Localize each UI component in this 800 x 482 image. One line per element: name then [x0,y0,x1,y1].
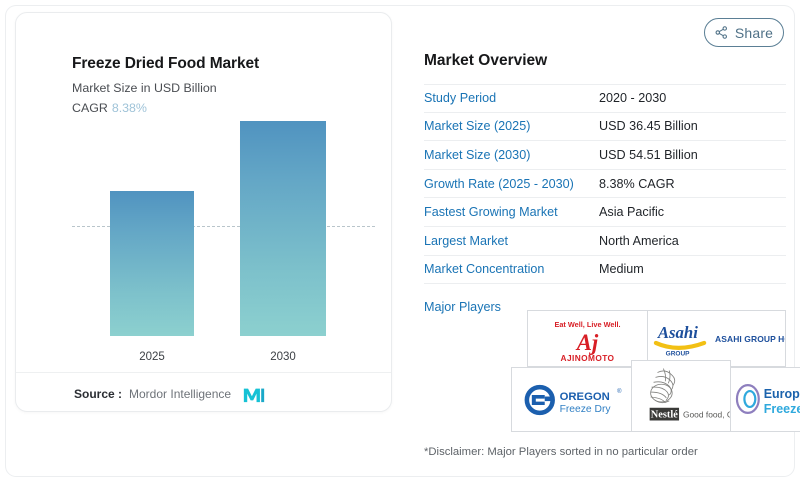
chart-cagr: CAGR8.38% [72,101,147,115]
cagr-value: 8.38% [112,101,147,115]
bar-2030[interactable] [240,121,326,336]
player-logo-european-freeze-dry: European Freeze Dry [731,367,800,432]
row-key: Market Size (2030) [424,148,599,162]
source-label: Source : [74,387,122,401]
row-value: USD 36.45 Billion [599,119,786,133]
table-row: Largest Market North America [424,227,786,256]
table-row: Market Concentration Medium [424,256,786,285]
chart-card: Freeze Dried Food Market Market Size in … [15,12,392,412]
mordor-intelligence-logo [243,386,265,403]
svg-text:Eat Well, Live Well.: Eat Well, Live Well. [554,320,620,329]
player-logo-nestle: Nestlé Good food, Good life [631,360,731,432]
svg-text:AJINOMOTO: AJINOMOTO [561,353,615,363]
source-divider [16,372,391,373]
x-tick-2025: 2025 [110,351,194,363]
share-button[interactable]: Share [704,18,784,47]
svg-text:Freeze Dry: Freeze Dry [764,402,800,416]
row-key: Fastest Growing Market [424,205,599,219]
svg-text:®: ® [617,388,622,395]
x-tick-2030: 2030 [240,351,326,363]
row-key: Market Concentration [424,262,599,276]
bar-2025[interactable] [110,191,194,336]
bar-chart-plot: USD 36.45 B USD 54.51 B 2025 2030 [16,121,392,371]
overview-table: Study Period 2020 - 2030 Market Size (20… [424,84,786,284]
row-key: Market Size (2025) [424,119,599,133]
table-row: Study Period 2020 - 2030 [424,84,786,113]
svg-text:Good food, Good life: Good food, Good life [683,410,730,420]
row-value: Medium [599,262,786,276]
svg-text:European: European [764,387,800,401]
chart-subtitle: Market Size in USD Billion [72,81,217,95]
market-overview-panel: Market Overview Study Period 2020 - 2030… [416,12,786,472]
source-value: Mordor Intelligence [129,387,231,401]
share-nodes-icon [715,26,728,39]
svg-text:GROUP: GROUP [666,351,691,358]
svg-text:Aj: Aj [575,330,599,355]
player-logo-oregon-freeze-dry: OREGON ® Freeze Dry [511,367,631,432]
market-summary-page: Share Freeze Dried Food Market Market Si… [0,0,800,482]
table-row: Fastest Growing Market Asia Pacific [424,198,786,227]
share-button-label: Share [735,25,773,41]
row-value: 8.38% CAGR [599,177,786,191]
svg-text:Nestlé: Nestlé [651,410,678,421]
row-value: USD 54.51 Billion [599,148,786,162]
svg-text:Freeze Dry: Freeze Dry [560,404,612,415]
major-players-label: Major Players [424,300,501,314]
major-players-logos: Eat Well, Live Well. Aj AJINOMOTO Asahi … [511,310,786,432]
source-row: Source : Mordor Intelligence [74,387,231,401]
row-value: Asia Pacific [599,205,786,219]
row-value: 2020 - 2030 [599,91,786,105]
player-logo-ajinomoto: Eat Well, Live Well. Aj AJINOMOTO [527,310,647,367]
table-row: Growth Rate (2025 - 2030) 8.38% CAGR [424,170,786,199]
disclaimer-text: *Disclaimer: Major Players sorted in no … [424,446,698,458]
svg-text:Asahi: Asahi [657,323,698,342]
row-key: Largest Market [424,234,599,248]
row-value: North America [599,234,786,248]
cagr-label: CAGR [72,101,108,115]
overview-title: Market Overview [424,52,547,70]
table-row: Market Size (2030) USD 54.51 Billion [424,141,786,170]
player-logo-asahi: Asahi GROUP ASAHI GROUP HOLDINGS [647,310,786,367]
svg-text:OREGON: OREGON [560,391,610,403]
chart-title: Freeze Dried Food Market [72,55,259,73]
row-key: Study Period [424,91,599,105]
svg-text:ASAHI GROUP HOLDINGS: ASAHI GROUP HOLDINGS [715,334,785,344]
table-row: Market Size (2025) USD 36.45 Billion [424,113,786,142]
row-key: Growth Rate (2025 - 2030) [424,177,599,191]
